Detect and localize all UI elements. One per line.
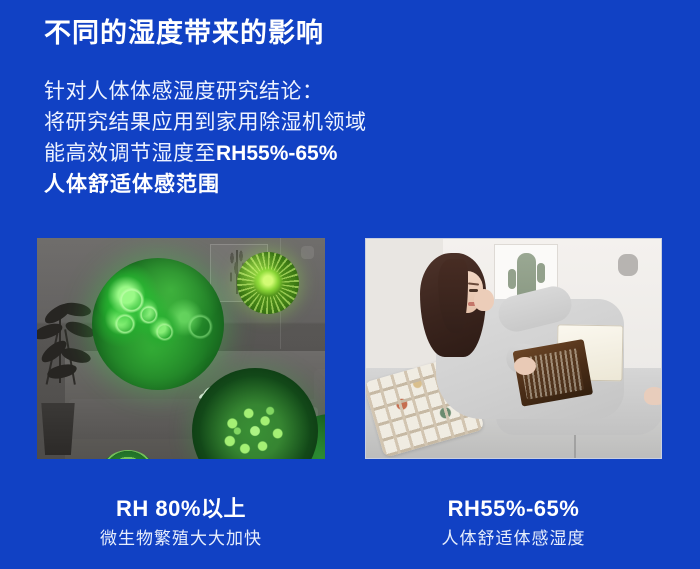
page-title: 不同的湿度带来的影响 xyxy=(44,17,324,51)
woman-hand-on-book xyxy=(514,357,536,375)
photo-comfort-humidity xyxy=(365,238,662,459)
wall-speaker xyxy=(301,246,314,259)
panel-captions: RH 80%以上 微生物繁殖大大加快 RH55%-65% 人体舒适体感湿度 xyxy=(0,494,700,569)
humidity-infographic-poster: 不同的湿度带来的影响 针对人体体感湿度研究结论： 将研究结果应用到家用除湿机领域… xyxy=(0,0,700,569)
woman-head xyxy=(430,257,482,319)
bright-room-scene xyxy=(366,239,661,458)
plant-leaf xyxy=(60,344,93,366)
caption-subtitle: 微生物繁殖大大加快 xyxy=(37,527,325,551)
comparison-panels xyxy=(0,238,700,461)
caption-comfort-humidity: RH55%-65% 人体舒适体感湿度 xyxy=(365,494,662,551)
woman-hand-at-forehead xyxy=(474,289,494,311)
caption-title: RH55%-65% xyxy=(365,494,662,524)
caption-title: RH 80%以上 xyxy=(37,494,325,524)
caption-subtitle: 人体舒适体感湿度 xyxy=(365,527,662,551)
intro-line-4: 人体舒适体感范围 xyxy=(44,169,367,200)
caption-high-humidity: RH 80%以上 微生物繁殖大大加快 xyxy=(37,494,325,551)
intro-line-1: 针对人体体感湿度研究结论： xyxy=(44,76,367,107)
intro-line-3-highlight: RH55%-65% xyxy=(216,142,337,165)
intro-line-3: 能高效调节湿度至RH55%-65% xyxy=(44,138,367,169)
dark-room-scene xyxy=(37,238,325,459)
wall-speaker xyxy=(618,254,638,276)
plant-pot xyxy=(39,403,77,455)
microbe-sphere-medium xyxy=(237,252,299,314)
microbe-sphere-large xyxy=(92,258,224,390)
intro-paragraph: 针对人体体感湿度研究结论： 将研究结果应用到家用除湿机领域 能高效调节湿度至RH… xyxy=(44,76,367,200)
intro-line-2: 将研究结果应用到家用除湿机领域 xyxy=(44,107,367,138)
intro-line-3-prefix: 能高效调节湿度至 xyxy=(44,142,216,165)
photo-high-humidity xyxy=(37,238,325,459)
woman-foot xyxy=(644,387,662,405)
house-plant xyxy=(37,299,99,411)
